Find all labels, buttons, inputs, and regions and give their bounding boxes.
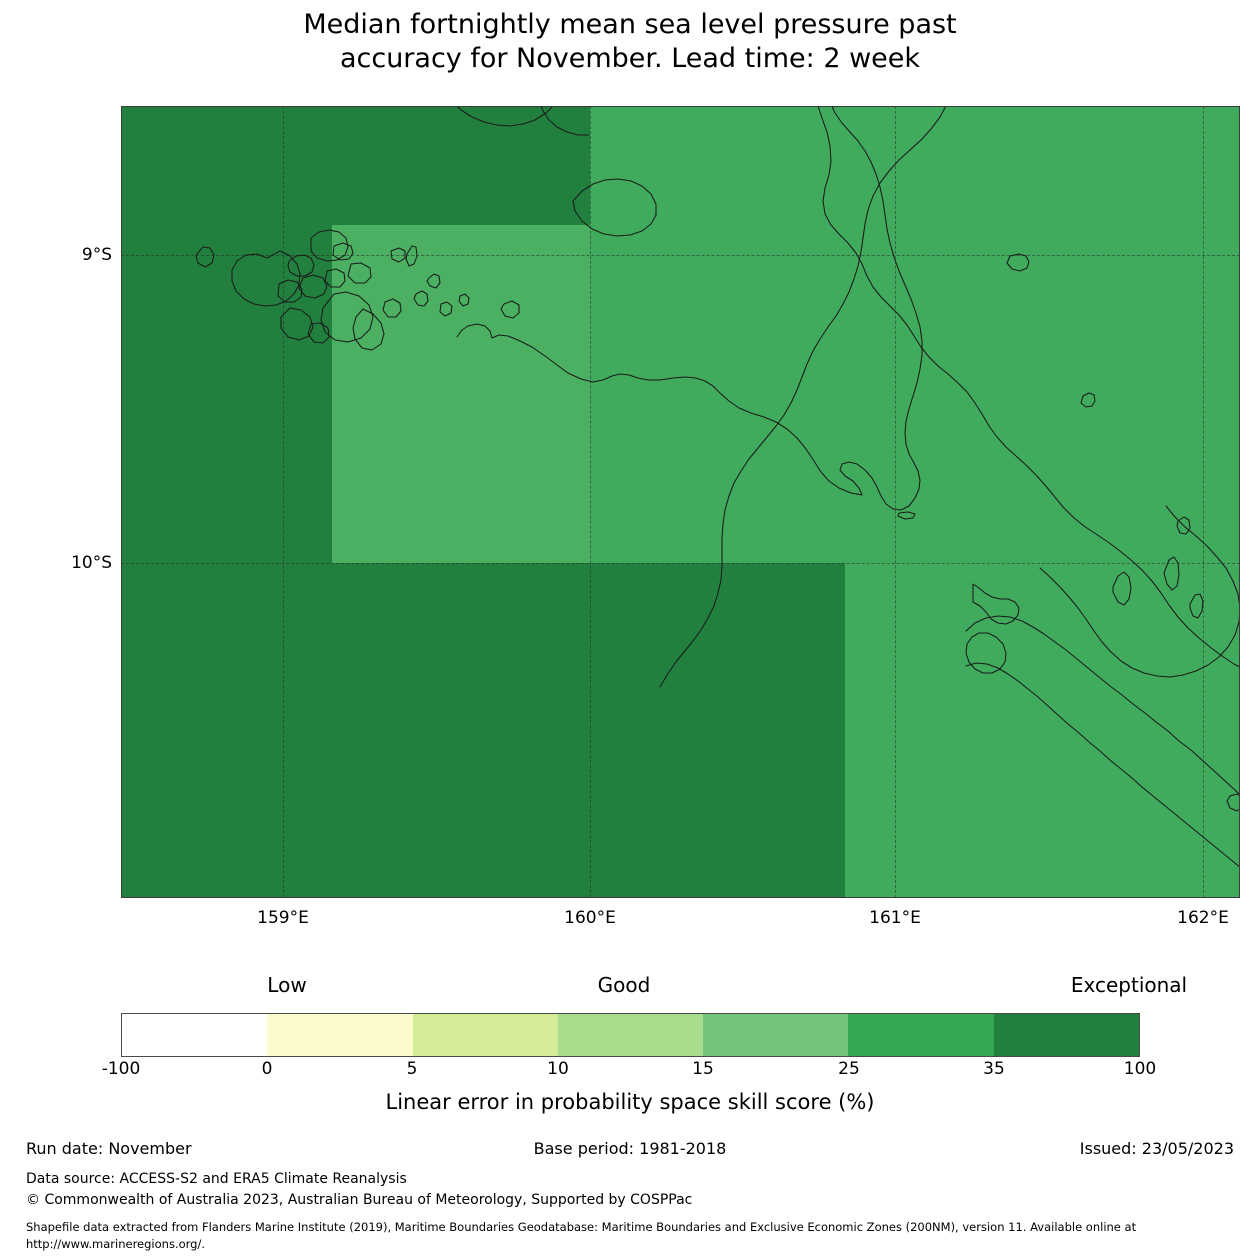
colorbar-segment: [558, 1014, 703, 1056]
x-axis-tick-label: 159°E: [257, 908, 309, 928]
colorbar-tick-label: 15: [692, 1059, 714, 1079]
x-axis-tick-label: 161°E: [869, 908, 921, 928]
x-axis-tick-label: 160°E: [564, 908, 616, 928]
coastline-layer: [121, 106, 1240, 898]
colorbar-tick-label: 35: [983, 1059, 1005, 1079]
x-axis-tick-label: 162°E: [1177, 908, 1229, 928]
shapefile-attribution-line-2: http://www.marineregions.org/.: [26, 1236, 1241, 1252]
page-title-line-2: accuracy for November. Lead time: 2 week: [0, 42, 1260, 76]
colorbar[interactable]: Low Good Exceptional -100 0 5 10 15 25 3…: [121, 1013, 1140, 1057]
page-title-line-1: Median fortnightly mean sea level pressu…: [0, 8, 1260, 42]
colorbar-segment: [267, 1014, 412, 1056]
map-plot-area[interactable]: [121, 106, 1240, 898]
y-axis-tick-label: 10°S: [71, 553, 112, 573]
copyright-text: © Commonwealth of Australia 2023, Austra…: [26, 1192, 692, 1208]
base-period-text: Base period: 1981-2018: [0, 1139, 1260, 1158]
colorbar-tick-label: -100: [102, 1059, 141, 1079]
colorbar-category-low: Low: [267, 973, 306, 997]
colorbar-segment: [994, 1014, 1139, 1056]
colorbar-gradient[interactable]: [121, 1013, 1140, 1057]
footer-meta-row: Run date: November Base period: 1981-201…: [0, 1139, 1260, 1161]
y-axis-tick-label: 9°S: [82, 245, 112, 265]
colorbar-tick-label: 5: [407, 1059, 418, 1079]
colorbar-segment: [848, 1014, 993, 1056]
coastline-paths: [196, 106, 1240, 868]
data-source-text: Data source: ACCESS-S2 and ERA5 Climate …: [26, 1171, 407, 1187]
colorbar-tick-label: 100: [1124, 1059, 1156, 1079]
colorbar-segment: [413, 1014, 558, 1056]
colorbar-category-good: Good: [598, 973, 651, 997]
page-title: Median fortnightly mean sea level pressu…: [0, 8, 1260, 76]
colorbar-axis-label: Linear error in probability space skill …: [0, 1090, 1260, 1114]
colorbar-tick-label: 10: [547, 1059, 569, 1079]
colorbar-tick-label: 0: [262, 1059, 273, 1079]
shapefile-attribution-line-1: Shapefile data extracted from Flanders M…: [26, 1219, 1241, 1235]
issued-date-text: Issued: 23/05/2023: [1080, 1139, 1234, 1158]
colorbar-tick-label: 25: [838, 1059, 860, 1079]
colorbar-category-exceptional: Exceptional: [1071, 973, 1187, 997]
colorbar-segment: [122, 1014, 267, 1056]
colorbar-segment: [703, 1014, 848, 1056]
